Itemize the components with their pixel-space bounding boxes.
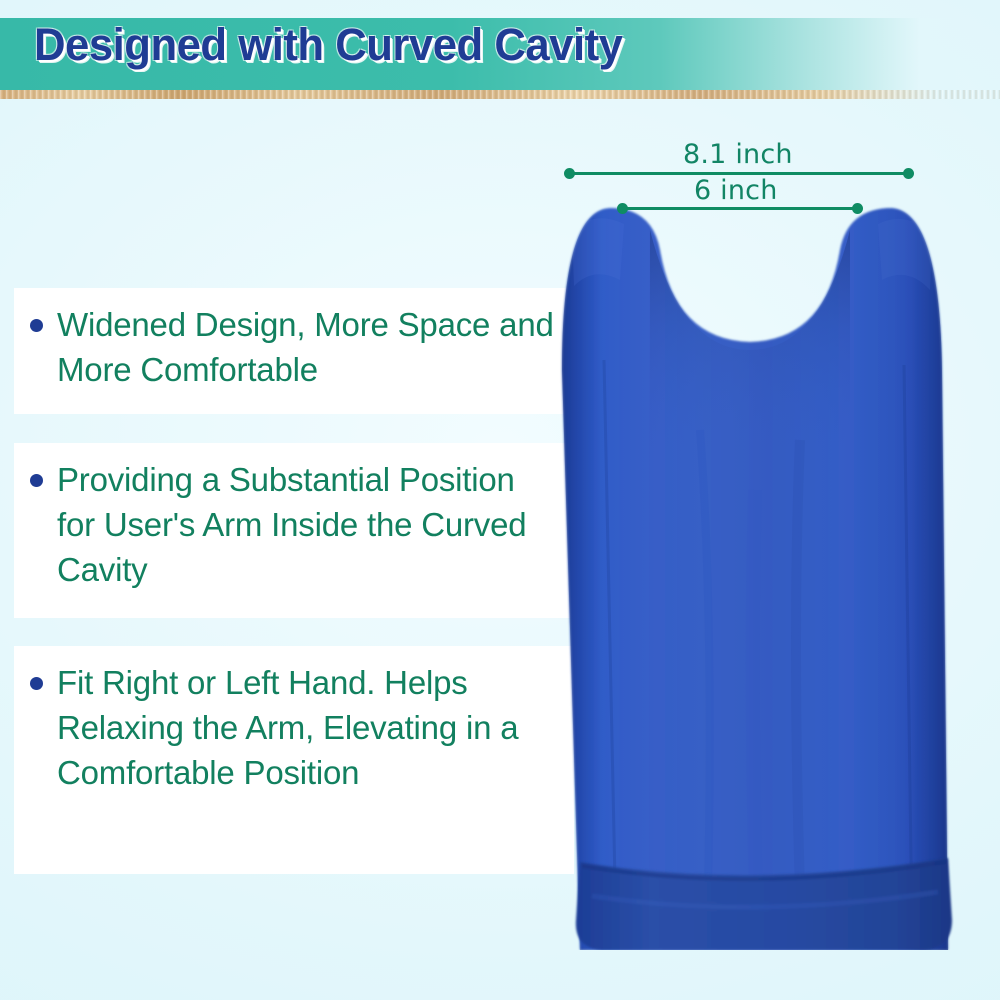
feature-card: Widened Design, More Space and More Comf… — [14, 288, 574, 414]
dimension-label-inner-width: 6 inch — [694, 175, 778, 206]
dimension-endpoint-icon — [617, 203, 628, 214]
product-image — [500, 190, 1000, 950]
feature-card: Fit Right or Left Hand. Helps Relaxing t… — [14, 646, 574, 874]
pillow-illustration — [500, 190, 1000, 950]
feature-card: Providing a Substantial Position for Use… — [14, 443, 574, 618]
dimension-line-inner-width — [622, 207, 857, 210]
feature-text: Widened Design, More Space and More Comf… — [57, 302, 556, 392]
bullet-point-icon — [30, 677, 43, 690]
dimension-endpoint-icon — [903, 168, 914, 179]
dimension-endpoint-icon — [564, 168, 575, 179]
bullet-point-icon — [30, 319, 43, 332]
bullet-point-icon — [30, 474, 43, 487]
feature-text: Fit Right or Left Hand. Helps Relaxing t… — [57, 660, 556, 796]
page-title: Designed with Curved Cavity — [34, 19, 622, 71]
dimension-endpoint-icon — [852, 203, 863, 214]
feature-text: Providing a Substantial Position for Use… — [57, 457, 556, 593]
infographic-canvas: Designed with Curved Cavity Widened Desi… — [0, 0, 1000, 1000]
dimension-label-outer-width: 8.1 inch — [683, 139, 793, 170]
header-accent-strip — [0, 90, 1000, 99]
